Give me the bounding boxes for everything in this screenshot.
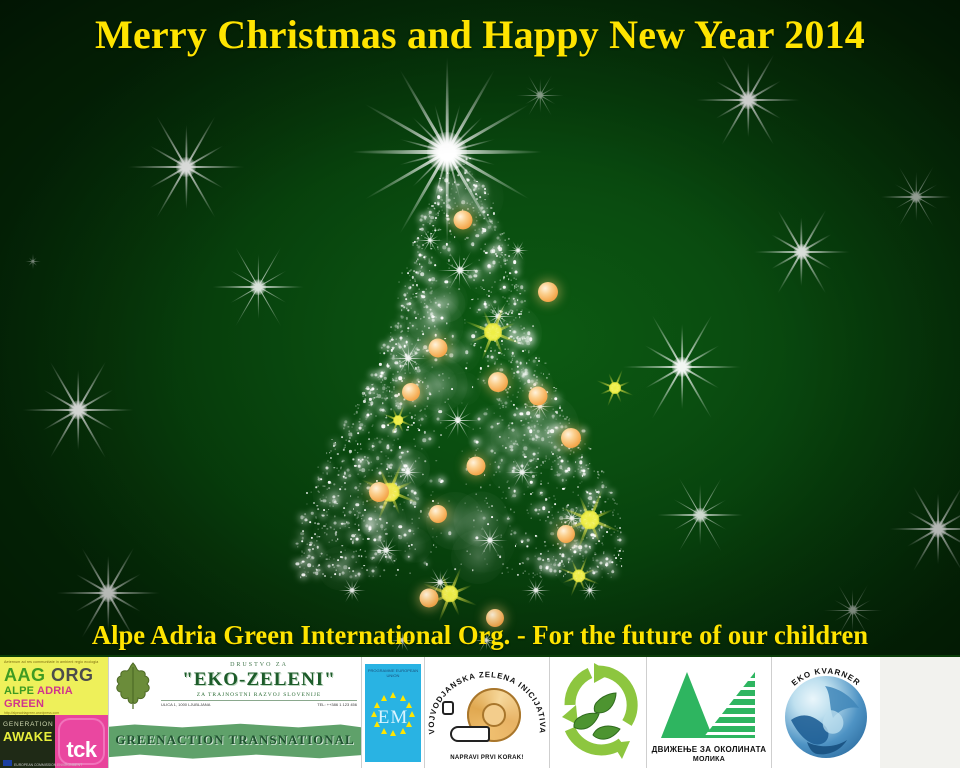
eko-zeleni-contact: ULICA 1, 1000 LJUBLJANA TEL: ++386 1 123… bbox=[159, 701, 359, 708]
vignette-overlay bbox=[0, 0, 960, 768]
eko-zeleni-contact-right: TEL: ++386 1 123 456 bbox=[317, 702, 357, 708]
logo-em-eu: PROGRAMME EUROPEAN UNION EM bbox=[362, 657, 424, 768]
logo-molika: ДВИЖЕЊЕ ЗА ОКОЛИНАТА МОЛИКА bbox=[647, 657, 771, 768]
snail-caption: NAPRAVI PRVI KORAK! bbox=[425, 755, 549, 761]
aag-subtitle-part1: ALPE bbox=[4, 685, 34, 697]
logo-eko-kvarner: EKO KVARNER bbox=[772, 657, 880, 768]
snail-body-icon bbox=[450, 726, 490, 742]
logo-eko-zeleni: DRUSTVO ZA "EKO-ZELENI" ZA TRAJNOSTNI RA… bbox=[109, 657, 361, 768]
greenaction-label: GREENACTION TRANSNATIONAL bbox=[109, 732, 361, 748]
eu-star-icon bbox=[400, 728, 406, 734]
em-header: PROGRAMME EUROPEAN UNION bbox=[365, 668, 421, 678]
eu-star-icon bbox=[381, 695, 387, 701]
em-label: EM bbox=[365, 707, 421, 729]
molika-line1: ДВИЖЕЊЕ ЗА ОКОЛИНАТА bbox=[647, 745, 771, 754]
eu-star-icon bbox=[390, 730, 396, 736]
aag-org-badge: Aeternum ad res communitate in ambient r… bbox=[0, 657, 108, 715]
logo-tck: tck bbox=[55, 715, 108, 768]
page-title: Merry Christmas and Happy New Year 2014 bbox=[0, 11, 960, 59]
eko-zeleni-letterhead: DRUSTVO ZA "EKO-ZELENI" ZA TRAJNOSTNI RA… bbox=[109, 657, 361, 715]
eko-zeleni-contact-left: ULICA 1, 1000 LJUBLJANA bbox=[161, 702, 210, 708]
aag-bottom-row: GENERATION AWAKE EUROPEAN COMMISSION ENV… bbox=[0, 715, 108, 768]
aag-title-part1: AAG bbox=[4, 665, 46, 685]
snail-plug-icon bbox=[442, 701, 454, 715]
logo-generation-awake: GENERATION AWAKE EUROPEAN COMMISSION ENV… bbox=[0, 715, 55, 768]
aag-title: AAG ORG bbox=[4, 665, 106, 685]
recycle-arrows-icon bbox=[550, 657, 646, 768]
aag-title-part2: ORG bbox=[51, 665, 94, 685]
tck-label: tck bbox=[66, 735, 96, 765]
logo-aag-org: Aeternum ad res communitate in ambient r… bbox=[0, 657, 108, 768]
logo-recycle-leaves bbox=[550, 657, 646, 768]
eu-star-icon bbox=[390, 692, 396, 698]
em-badge: PROGRAMME EUROPEAN UNION EM bbox=[365, 664, 421, 762]
generation-awake-eu-note: EUROPEAN COMMISSION ENVIRONMENT bbox=[14, 763, 82, 767]
eko-zeleni-title: "EKO-ZELENI" bbox=[159, 669, 359, 691]
molika-peak-icon bbox=[661, 672, 713, 738]
generation-awake-line1: GENERATION bbox=[3, 721, 52, 729]
molika-line2: МОЛИКА bbox=[647, 756, 771, 763]
kvarner-arc-text: EKO KVARNER bbox=[776, 663, 876, 763]
tck-badge: tck bbox=[58, 718, 105, 765]
generation-awake-line2: AWAKE bbox=[3, 729, 52, 744]
eu-flag-icon bbox=[3, 760, 12, 766]
partner-logo-strip: Aeternum ad res communitate in ambient r… bbox=[0, 655, 960, 768]
eko-zeleni-kicker: DRUSTVO ZA bbox=[159, 661, 359, 669]
aag-subtitle: ALPE ADRIA GREEN bbox=[4, 685, 106, 711]
eu-star-icon bbox=[381, 728, 387, 734]
logo-vojvodjanska-zelena-inicijativa: VOJVODJANSKA ZELENA INICIJATIVA NAPRAVI … bbox=[425, 657, 549, 768]
eu-star-icon bbox=[400, 695, 406, 701]
eko-zeleni-text: DRUSTVO ZA "EKO-ZELENI" ZA TRAJNOSTNI RA… bbox=[155, 661, 359, 711]
tagline: Alpe Adria Green International Org. - Fo… bbox=[7, 619, 953, 651]
logo-greenaction-transnational: GREENACTION TRANSNATIONAL bbox=[109, 715, 361, 768]
greeting-card: Merry Christmas and Happy New Year 2014 … bbox=[0, 0, 960, 768]
svg-text:EKO KVARNER: EKO KVARNER bbox=[790, 666, 862, 687]
oak-leaf-icon bbox=[111, 661, 155, 711]
eko-zeleni-subtitle: ZA TRAJNOSTNI RAZVOJ SLOVENIJE bbox=[159, 691, 359, 699]
